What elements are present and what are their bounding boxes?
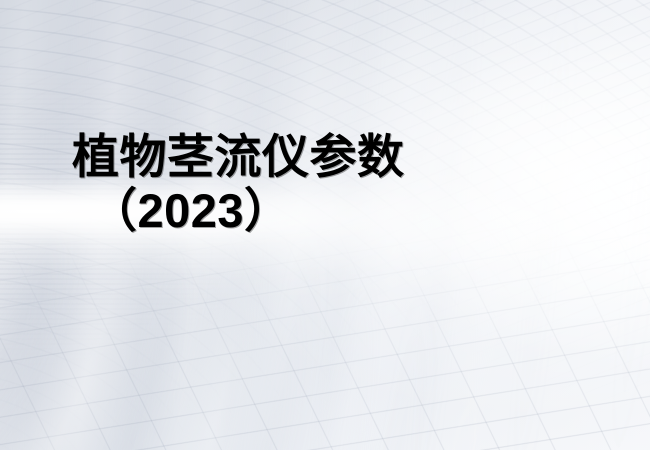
- title-slide: 植物茎流仪参数 （2023）: [0, 0, 650, 450]
- title-block: 植物茎流仪参数 （2023）: [72, 130, 592, 238]
- slide-title-line-2: （2023）: [72, 184, 592, 239]
- slide-title-line-1: 植物茎流仪参数: [72, 130, 592, 184]
